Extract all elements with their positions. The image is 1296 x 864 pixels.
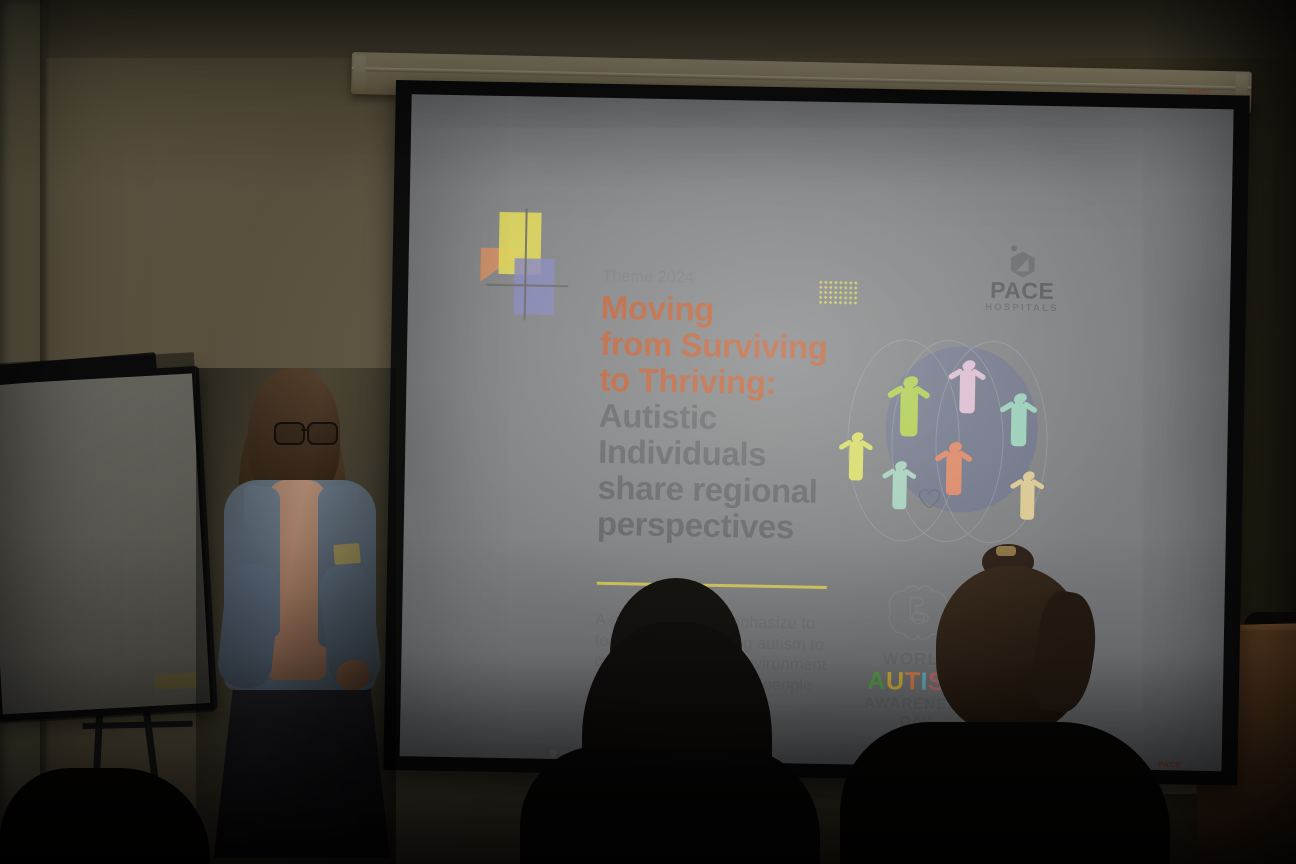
pace-hospitals-logo: PACE HOSPITALS (974, 245, 1071, 323)
person-figure-mint (886, 453, 913, 509)
glasses-lens-left (274, 422, 305, 445)
pace-brand-subtitle: HOSPITALS (974, 302, 1070, 315)
photo-scene: Somfy Theme 2024 Moving (0, 0, 1296, 864)
person-figure-orange (939, 433, 969, 495)
pace-dot-accent (1011, 245, 1017, 251)
person-figure-green (892, 366, 926, 437)
title-line-7: perspectives (597, 506, 866, 547)
globe-people-illustration (828, 332, 1082, 552)
pace-brand-name: PACE (974, 279, 1070, 304)
theme-label: Theme 2024 (602, 268, 694, 288)
person-figure-sand (1014, 463, 1041, 519)
glasses-bridge (301, 429, 309, 431)
person-figure-teal (1004, 384, 1034, 446)
heart-doodle-icon (916, 486, 942, 510)
ceiling (0, 0, 1296, 58)
presenter-glasses (274, 422, 340, 442)
pace-hexagon-icon (1007, 245, 1038, 278)
glasses-lens-right (307, 422, 338, 445)
presenter-name-badge (333, 543, 361, 565)
person-figure-pink (953, 351, 983, 413)
person-figure-yellow (843, 424, 870, 480)
audience-b-hair-tie (996, 546, 1016, 556)
floor-shadow (0, 654, 1296, 864)
roller-endcap-left (353, 55, 366, 91)
geometric-decoration (480, 208, 574, 322)
